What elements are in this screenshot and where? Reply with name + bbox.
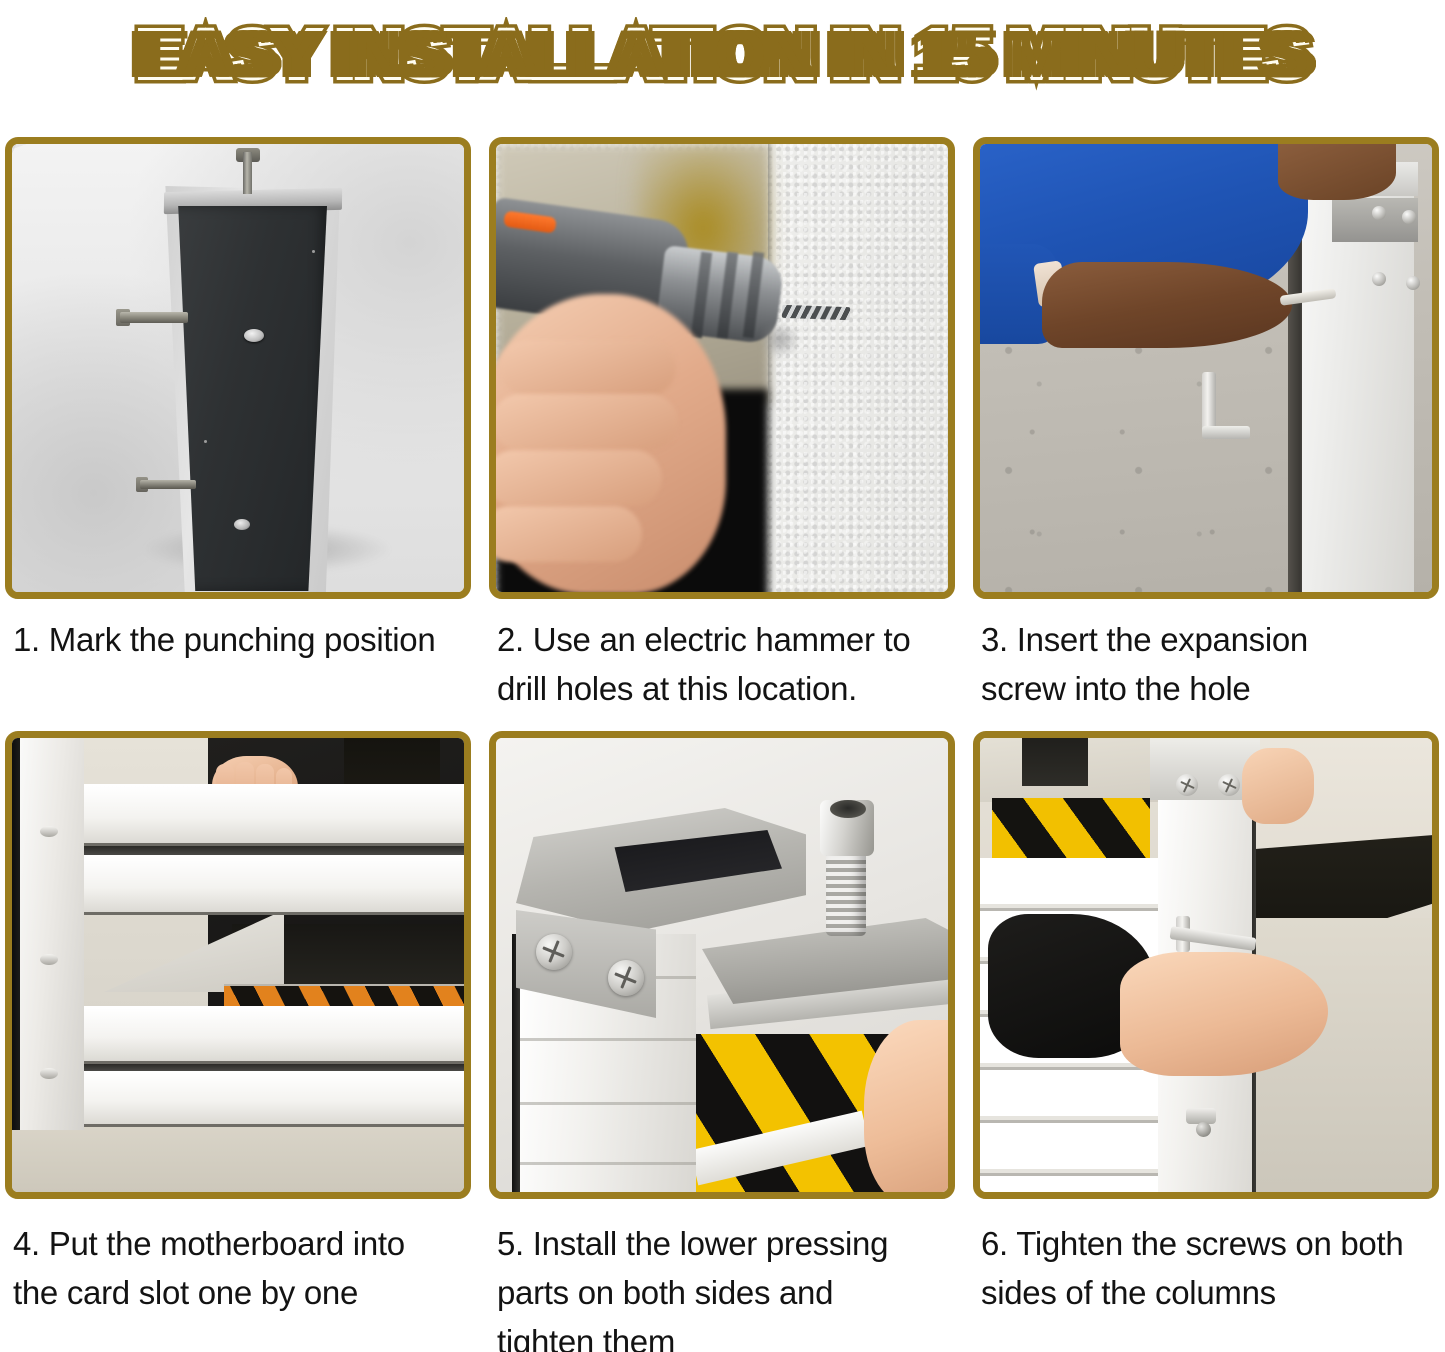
side-bolt-lower xyxy=(140,480,196,489)
upper-hand xyxy=(1242,748,1314,824)
step-photo-5 xyxy=(496,738,948,1192)
step-photo-frame-3 xyxy=(973,137,1439,599)
step-photo-2 xyxy=(496,144,948,592)
wall-corner-edge xyxy=(768,144,773,592)
steps-grid: 1. Mark the punching position xyxy=(5,137,1440,1352)
page-title-text: EASY INSTALLATION IN 15 MINUTES xyxy=(136,20,1308,90)
bracket-screw xyxy=(536,934,572,970)
finger xyxy=(496,506,642,562)
upper-left-dark-object xyxy=(1022,738,1088,786)
step-photo-3 xyxy=(980,144,1432,592)
caption-line: the card slot one by one xyxy=(13,1268,465,1317)
column-groove xyxy=(520,1102,696,1105)
allen-key-foot xyxy=(1202,426,1250,439)
column-groove xyxy=(520,1038,696,1041)
caption-line: screw into the hole xyxy=(981,664,1433,713)
caption-line: sides of the columns xyxy=(981,1268,1433,1317)
step-cell-6: 6. Tighten the screws on both sides of t… xyxy=(973,731,1439,1352)
step-caption-1: 1. Mark the punching position xyxy=(5,599,471,664)
caption-line: 4. Put the motherboard into xyxy=(13,1219,465,1268)
step-caption-3: 3. Insert the expansion screw into the h… xyxy=(973,599,1439,713)
drill-dust xyxy=(760,322,800,358)
caption-line: 3. Insert the expansion xyxy=(981,615,1433,664)
post-screw xyxy=(40,1068,58,1079)
board-gap xyxy=(80,1064,464,1071)
page-title: EASY INSTALLATION IN 15 MINUTES EASY INS… xyxy=(148,20,1297,90)
step-cell-5: 5. Install the lower pressing parts on b… xyxy=(489,731,955,1352)
template-hole-upper xyxy=(244,329,264,342)
header-banner: EASY INSTALLATION IN 15 MINUTES EASY INS… xyxy=(0,0,1445,110)
step-photo-6 xyxy=(980,738,1432,1192)
caption-line: 6. Tighten the screws on both xyxy=(981,1219,1433,1268)
caption-line: drill holes at this location. xyxy=(497,664,949,713)
column-groove xyxy=(520,1162,696,1165)
plate-screw xyxy=(1402,210,1416,224)
step-photo-frame-2 xyxy=(489,137,955,599)
worker-upper-hand xyxy=(1278,144,1396,200)
post-screw xyxy=(40,954,58,965)
worker-arm xyxy=(1042,262,1292,348)
cap-screw xyxy=(1176,774,1198,796)
plate-screw xyxy=(1406,276,1420,290)
finger xyxy=(496,394,678,450)
step-photo-frame-1 xyxy=(5,137,471,599)
lower-screw xyxy=(1196,1122,1211,1137)
bracket-screw xyxy=(608,960,644,996)
template-hole-lower xyxy=(234,519,250,530)
step-cell-3: 3. Insert the expansion screw into the h… xyxy=(973,137,1439,713)
finger xyxy=(500,340,676,396)
hazard-stripe-tape xyxy=(992,798,1150,864)
caption-line: 1. Mark the punching position xyxy=(13,615,465,664)
board-gap xyxy=(80,846,464,855)
step-caption-6: 6. Tighten the screws on both sides of t… xyxy=(973,1199,1439,1317)
surface-speck xyxy=(312,250,315,253)
barrier-board xyxy=(80,784,464,846)
side-bolt-upper xyxy=(120,312,188,323)
barrier-board xyxy=(80,855,464,915)
caption-line: 2. Use an electric hammer to xyxy=(497,615,949,664)
top-stud xyxy=(243,152,252,194)
step-cell-4: 4. Put the motherboard into the card slo… xyxy=(5,731,471,1352)
plate-screw xyxy=(1372,206,1386,220)
step-caption-5: 5. Install the lower pressing parts on b… xyxy=(489,1199,955,1352)
finger xyxy=(496,450,662,506)
drill-bit xyxy=(782,305,850,320)
step-photo-frame-5 xyxy=(489,731,955,1199)
thumb-bolt-socket xyxy=(830,800,866,818)
step-caption-4: 4. Put the motherboard into the card slo… xyxy=(5,1199,471,1317)
caption-line: parts on both sides and xyxy=(497,1268,949,1317)
barrier-board xyxy=(80,1006,464,1064)
barrier-board xyxy=(80,1071,464,1127)
step-photo-1 xyxy=(12,144,464,592)
caption-line: 5. Install the lower pressing xyxy=(497,1219,949,1268)
plate-screw xyxy=(1372,272,1386,286)
installation-guide-page: EASY INSTALLATION IN 15 MINUTES EASY INS… xyxy=(0,0,1445,1352)
caption-line: tighten them xyxy=(497,1317,949,1352)
step-photo-frame-6 xyxy=(973,731,1439,1199)
template-face xyxy=(172,206,327,591)
step-photo-frame-4 xyxy=(5,731,471,1199)
post-screw xyxy=(40,826,58,837)
step-caption-2: 2. Use an electric hammer to drill holes… xyxy=(489,599,955,713)
cap-screw xyxy=(1218,774,1240,796)
step-cell-2: 2. Use an electric hammer to drill holes… xyxy=(489,137,955,713)
surface-speck xyxy=(204,440,207,443)
thumb-bolt-thread xyxy=(826,848,866,936)
step-photo-4 xyxy=(12,738,464,1192)
step-cell-1: 1. Mark the punching position xyxy=(5,137,471,713)
